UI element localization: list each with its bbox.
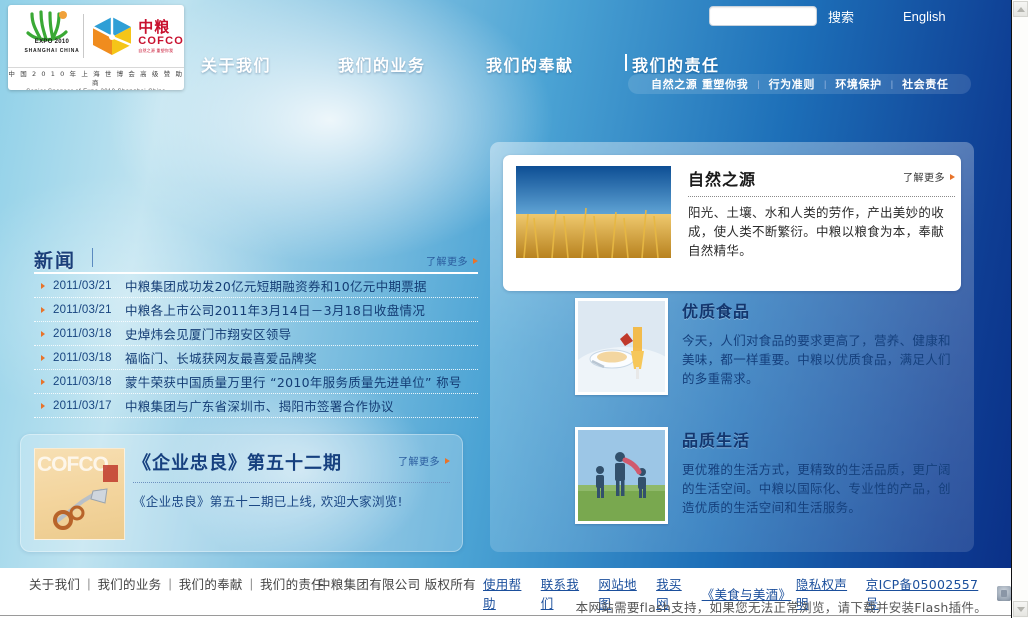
divider [133, 481, 450, 483]
life-card-title: 品质生活 [682, 427, 955, 451]
footer-nav-contribution[interactable]: 我们的奉献 [172, 574, 250, 593]
page-viewport: EXPO 2010 SHANGHAI CHINA 中粮 [0, 0, 1011, 618]
food-thumbnail[interactable] [575, 298, 668, 395]
magazine-more-label: 了解更多 [398, 453, 440, 468]
footer-link-help[interactable]: 使用帮助 [483, 574, 532, 612]
bullet-icon [41, 379, 45, 385]
news-item-link[interactable]: 中粮集团与广东省深圳市、揭阳市签署合作协议 [125, 396, 394, 415]
news-item-date: 2011/03/18 [53, 328, 125, 340]
feature-panel: 自然之源 阳光、土壤、水和人类的劳作，产出美妙的收成，使人类不断繁衍。中粮以粮食… [490, 142, 974, 552]
news-item[interactable]: 2011/03/18 福临门、长城获网友最喜爱品牌奖 [34, 346, 478, 370]
news-item[interactable]: 2011/03/21 中粮集团成功发20亿元短期融资券和10亿元中期票据 [34, 274, 478, 298]
news-item-link[interactable]: 史焯炜会见厦门市翔安区领导 [125, 324, 291, 343]
bullet-icon [41, 307, 45, 313]
arrow-right-icon [445, 458, 450, 464]
cofco-logo: 中粮 COFCO 自然之源 重塑你我 [88, 15, 184, 57]
nature-card-body: 自然之源 阳光、土壤、水和人类的劳作，产出美妙的收成，使人类不断繁衍。中粮以粮食… [671, 166, 961, 260]
magazine-cover-image[interactable]: COFCO [34, 448, 125, 540]
chevron-up-icon [1017, 7, 1025, 12]
news-list: 2011/03/21 中粮集团成功发20亿元短期融资券和10亿元中期票据 201… [34, 274, 478, 418]
news-item-date: 2011/03/21 [53, 280, 125, 292]
magazine-cover-watermark: COFCO [37, 453, 108, 477]
footer-navigation: 关于我们 | 我们的业务 | 我们的奉献 | 我们的责任 [22, 574, 331, 593]
arrow-right-icon [473, 258, 478, 264]
expo-year: 2010 [55, 39, 70, 45]
arrow-right-icon [950, 174, 955, 180]
scroll-up-button[interactable] [1013, 1, 1028, 17]
food-card-desc: 今天，人们对食品的要求更高了，营养、健康和美味，都一样重要。中粮以优质食品，满足… [682, 331, 955, 388]
news-more-label: 了解更多 [426, 253, 468, 268]
footer-nav-business[interactable]: 我们的业务 [90, 574, 168, 593]
news-item-link[interactable]: 中粮各上市公司2011年3月14日－3月18日收盘情况 [125, 300, 425, 319]
news-item[interactable]: 2011/03/18 史焯炜会见厦门市翔安区领导 [34, 322, 478, 346]
nav-item-contribution[interactable]: 我们的奉献 [486, 52, 574, 76]
cofco-wordmark: 中粮 COFCO 自然之源 重塑你我 [138, 20, 184, 53]
bullet-icon [41, 403, 45, 409]
news-item-date: 2011/03/21 [53, 304, 125, 316]
news-item[interactable]: 2011/03/21 中粮各上市公司2011年3月14日－3月18日收盘情况 [34, 298, 478, 322]
cofco-cube-icon [91, 15, 133, 57]
search-area: 搜索 [709, 6, 854, 26]
feature-card-life[interactable]: 品质生活 更优雅的生活方式，更精致的生活品质，更广阔的生活空间。中粮以国际化、专… [575, 427, 961, 539]
magazine-promo-card[interactable]: COFCO 《企业忠良》第五十二期 《企业忠良》第五十二期已上线, 欢迎大家浏览… [20, 434, 463, 552]
food-card-title: 优质食品 [682, 298, 955, 322]
feature-card-food[interactable]: 优质食品 今天，人们对食品的要求更高了，营养、健康和美味，都一样重要。中粮以优质… [575, 298, 961, 410]
news-header: 新闻 了解更多 [34, 246, 478, 274]
bullet-icon [41, 283, 45, 289]
sponsor-caption-en: Senior Sponsor of Expo 2010 Shanghai Chi… [8, 88, 184, 90]
news-item[interactable]: 2011/03/18 蒙牛荣获中国质量万里行 “2010年服务质量先进单位” 称… [34, 370, 478, 394]
footer-copyright: 中粮集团有限公司 版权所有 [318, 574, 476, 593]
family-field-image [578, 430, 668, 524]
vertical-scrollbar[interactable] [1011, 0, 1028, 618]
scroll-down-button[interactable] [1013, 601, 1028, 617]
feature-card-nature[interactable]: 自然之源 阳光、土壤、水和人类的劳作，产出美妙的收成，使人类不断繁衍。中粮以粮食… [503, 155, 961, 291]
language-link[interactable]: English [903, 9, 946, 24]
news-item-link[interactable]: 蒙牛荣获中国质量万里行 “2010年服务质量先进单位” 称号 [125, 372, 462, 391]
window-bottom-border [0, 615, 1011, 616]
nature-more-label: 了解更多 [903, 169, 945, 184]
nature-thumbnail[interactable] [516, 166, 671, 258]
footer-flash-notice: 本网站需要flash支持，如果您无法正常浏览，请下载并安装Flash插件。 [576, 597, 987, 616]
site-header: EXPO 2010 SHANGHAI CHINA 中粮 [0, 0, 1011, 100]
subnav-item-social[interactable]: 社会责任 [893, 76, 957, 92]
search-input[interactable] [709, 6, 817, 26]
nav-item-responsibility[interactable]: 我们的责任 [632, 52, 720, 76]
police-badge-icon[interactable] [997, 586, 1011, 601]
subnav-item-nature[interactable]: 自然之源 重塑你我 [642, 76, 757, 92]
life-thumbnail[interactable] [575, 427, 668, 524]
nav-item-about[interactable]: 关于我们 [201, 52, 271, 76]
food-table-image [578, 301, 668, 395]
news-item-link[interactable]: 福临门、长城获网友最喜爱品牌奖 [125, 348, 317, 367]
nature-card-desc: 阳光、土壤、水和人类的劳作，产出美妙的收成，使人类不断繁衍。中粮以粮食为本，奉献… [688, 203, 955, 260]
trumpet-icon [49, 487, 111, 533]
bullet-icon [41, 355, 45, 361]
divider [688, 195, 955, 197]
magazine-promo-desc: 《企业忠良》第五十二期已上线, 欢迎大家浏览! [133, 491, 450, 510]
news-item[interactable]: 2011/03/17 中粮集团与广东省深圳市、揭阳市签署合作协议 [34, 394, 478, 418]
search-button[interactable]: 搜索 [828, 7, 854, 26]
footer-nav-about[interactable]: 关于我们 [22, 574, 87, 593]
nature-more-link[interactable]: 了解更多 [903, 169, 955, 184]
site-footer: 关于我们 | 我们的业务 | 我们的奉献 | 我们的责任 中粮集团有限公司 版权… [0, 571, 1011, 616]
subnav-item-environment[interactable]: 环境保护 [826, 76, 890, 92]
wheat-field-image [516, 166, 671, 258]
news-more-link[interactable]: 了解更多 [426, 253, 478, 268]
life-card-desc: 更优雅的生活方式，更精致的生活品质，更广阔的生活空间。中粮以国际化、专业性的产品… [682, 460, 955, 517]
cofco-name-en: COFCO [138, 36, 184, 47]
magazine-cover-seal [103, 465, 118, 482]
expo-label: EXPO [35, 39, 53, 45]
bullet-icon [41, 331, 45, 337]
nav-item-business[interactable]: 我们的业务 [338, 52, 426, 76]
news-section: 新闻 了解更多 2011/03/21 中粮集团成功发20亿元短期融资券和10亿元… [34, 246, 478, 418]
magazine-more-link[interactable]: 了解更多 [398, 453, 450, 468]
news-item-link[interactable]: 中粮集团成功发20亿元短期融资券和10亿元中期票据 [125, 276, 427, 295]
sub-navigation: 自然之源 重塑你我 | 行为准则 | 环境保护 | 社会责任 [628, 74, 971, 94]
food-card-body: 优质食品 今天，人们对食品的要求更高了，营养、健康和美味，都一样重要。中粮以优质… [668, 298, 961, 410]
chevron-down-icon [1017, 607, 1025, 612]
news-title: 新闻 [34, 250, 76, 272]
footer-row-primary: 关于我们 | 我们的业务 | 我们的奉献 | 我们的责任 中粮集团有限公司 版权… [0, 574, 1011, 594]
news-item-date: 2011/03/18 [53, 376, 125, 388]
cofco-name-cn: 中粮 [138, 20, 184, 35]
news-item-date: 2011/03/18 [53, 352, 125, 364]
subnav-item-code-of-conduct[interactable]: 行为准则 [760, 76, 824, 92]
news-item-date: 2011/03/17 [53, 400, 125, 412]
scrollbar-track[interactable] [1013, 17, 1028, 601]
life-card-body: 品质生活 更优雅的生活方式，更精致的生活品质，更广阔的生活空间。中粮以国际化、专… [668, 427, 961, 539]
